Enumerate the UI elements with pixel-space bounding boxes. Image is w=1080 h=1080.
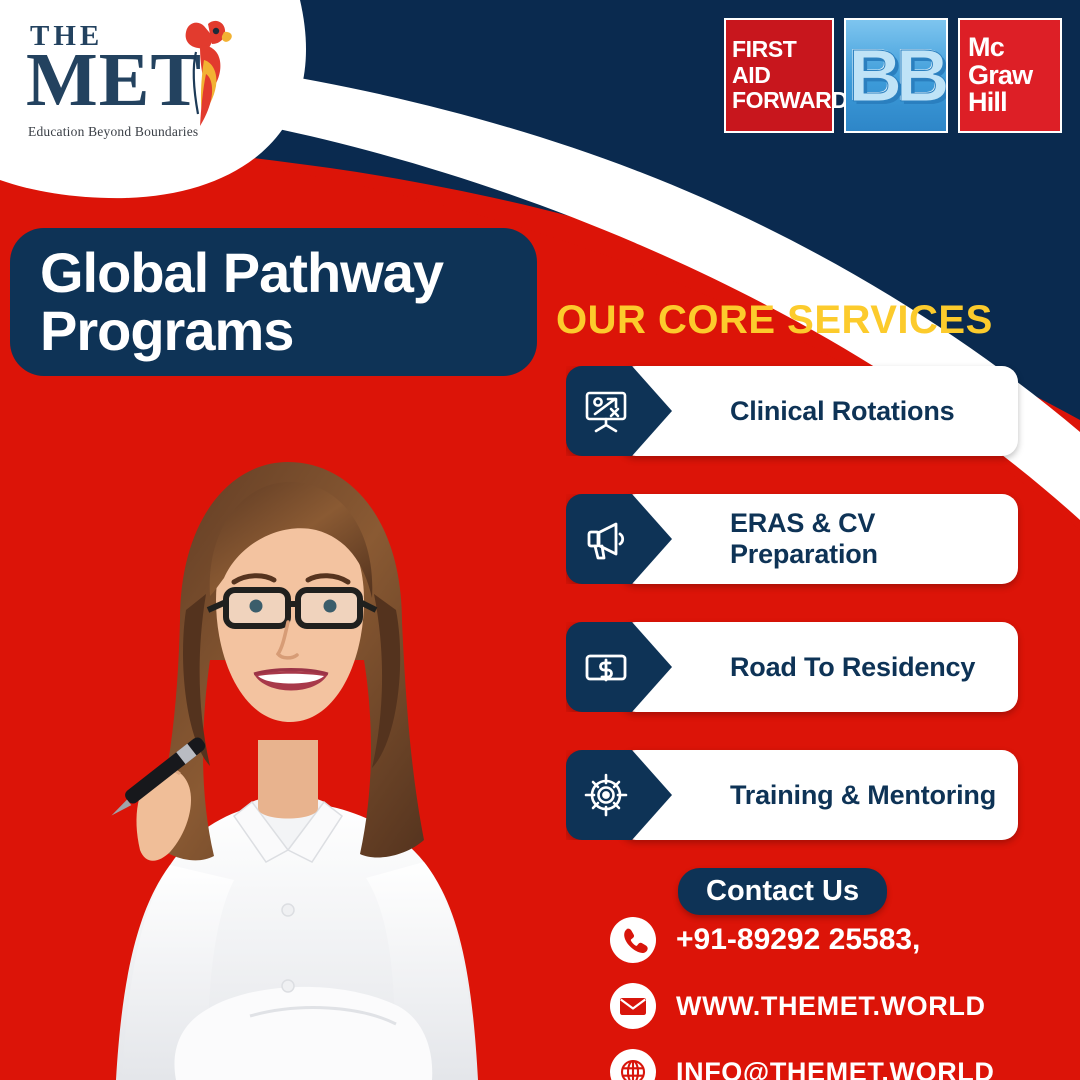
partner-logos: FIRST AID FORWARD BB Mc Graw Hill xyxy=(724,18,1062,133)
partner-line: Mc xyxy=(968,34,1004,62)
headline-banner: Global Pathway Programs xyxy=(10,228,537,376)
globe-icon xyxy=(610,1049,656,1080)
contact-row-website[interactable]: WWW.THEMET.WORLD xyxy=(610,978,1050,1034)
partner-line: FIRST xyxy=(732,37,796,63)
service-label: ERAS & CV Preparation xyxy=(730,508,1018,570)
strategy-board-icon xyxy=(582,387,630,435)
partner-line: Graw xyxy=(968,62,1032,90)
service-label: Training & Mentoring xyxy=(730,780,996,811)
partner-logo-mcgraw-hill[interactable]: Mc Graw Hill xyxy=(958,18,1062,133)
contact-us-badge: Contact Us xyxy=(678,868,887,915)
service-icon-pennant xyxy=(566,750,672,840)
service-card[interactable]: Road To Residency xyxy=(566,622,1018,712)
contact-row-email[interactable]: INFO@THEMET.WORLD xyxy=(610,1044,1050,1080)
logo-tagline: Education Beyond Boundaries xyxy=(28,124,198,140)
contact-row-phone[interactable]: +91-89292 25583, xyxy=(610,912,1050,968)
service-card[interactable]: ERAS & CV Preparation xyxy=(566,494,1018,584)
partner-logo-first-aid-forward[interactable]: FIRST AID FORWARD xyxy=(724,18,834,133)
money-bill-icon xyxy=(582,643,630,691)
service-icon-pennant xyxy=(566,366,672,456)
contact-list: +91-89292 25583, WWW.THEMET.WORLD INFO@T… xyxy=(610,912,1050,1080)
phone-icon xyxy=(610,917,656,963)
headline-line-2: Programs xyxy=(40,302,537,360)
contact-phone-value: +91-89292 25583, xyxy=(676,923,920,957)
service-card[interactable]: Training & Mentoring xyxy=(566,750,1018,840)
envelope-icon xyxy=(610,983,656,1029)
woman-photo xyxy=(20,410,540,1080)
target-icon xyxy=(582,771,630,819)
contact-website-value: WWW.THEMET.WORLD xyxy=(676,991,986,1022)
partner-line: FORWARD xyxy=(732,88,848,114)
service-label: Road To Residency xyxy=(730,652,975,683)
parrot-icon xyxy=(174,16,238,128)
service-card[interactable]: Clinical Rotations xyxy=(566,366,1018,456)
services-card-list: Clinical Rotations ERAS & CV Preparation xyxy=(566,366,1018,878)
partner-line: BB xyxy=(849,39,944,113)
service-card-body: Clinical Rotations xyxy=(620,366,1018,456)
service-card-body: ERAS & CV Preparation xyxy=(620,494,1018,584)
headline-line-1: Global Pathway xyxy=(40,244,537,302)
partner-line: Hill xyxy=(968,89,1007,117)
service-card-body: Road To Residency xyxy=(620,622,1018,712)
service-label: Clinical Rotations xyxy=(730,396,954,427)
services-title: OUR CORE SERVICES xyxy=(556,298,993,343)
poster-canvas: THE MET Education Beyond Boundaries FIRS… xyxy=(0,0,1080,1080)
partner-line: AID xyxy=(732,63,770,89)
service-card-body: Training & Mentoring xyxy=(620,750,1018,840)
partner-logo-bb[interactable]: BB xyxy=(844,18,948,133)
service-icon-pennant xyxy=(566,622,672,712)
brand-logo[interactable]: THE MET Education Beyond Boundaries xyxy=(22,14,272,142)
service-icon-pennant xyxy=(566,494,672,584)
megaphone-icon xyxy=(582,515,630,563)
contact-email-value: INFO@THEMET.WORLD xyxy=(676,1057,995,1080)
